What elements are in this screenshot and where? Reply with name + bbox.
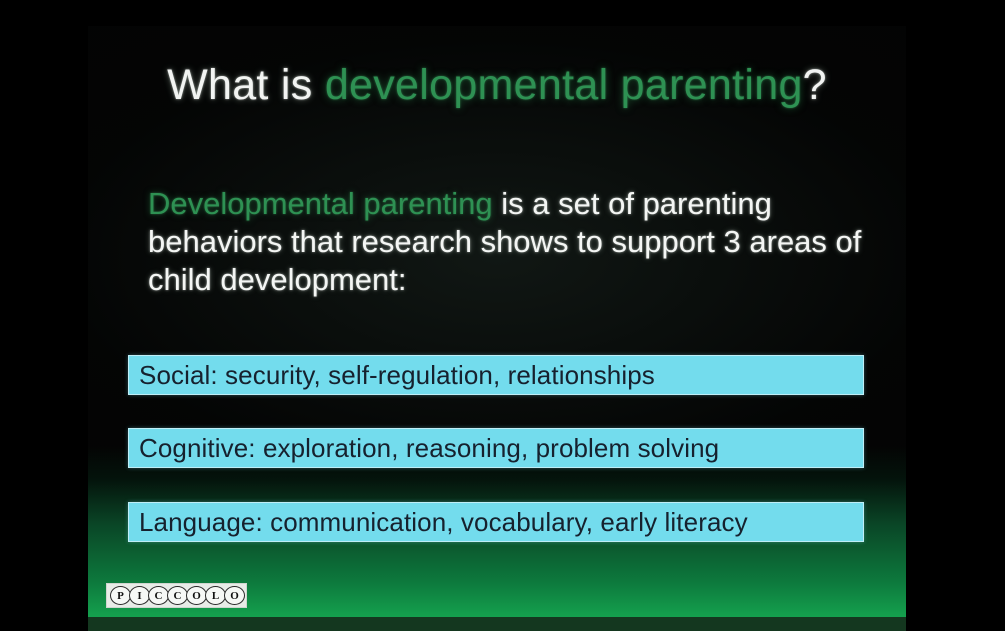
presentation-slide: What is developmental parenting? Develop…: [88, 26, 906, 631]
domain-bar-cognitive-label: Cognitive: exploration, reasoning, probl…: [129, 434, 719, 462]
piccolo-logo: P I C C O L O: [106, 583, 247, 608]
title-suffix: ?: [803, 61, 827, 109]
domain-bar-language: Language: communication, vocabulary, ear…: [128, 502, 864, 542]
domain-bar-language-label: Language: communication, vocabulary, ear…: [129, 508, 748, 536]
body-paragraph: Developmental parenting is a set of pare…: [148, 185, 878, 299]
title-highlight: developmental parenting: [325, 61, 803, 109]
domain-bar-cognitive: Cognitive: exploration, reasoning, probl…: [128, 428, 864, 468]
domain-bar-social-label: Social: security, self-regulation, relat…: [129, 361, 655, 389]
title-prefix: What is: [167, 61, 325, 109]
piccolo-logo-letter: I: [129, 586, 150, 605]
piccolo-logo-letter: C: [167, 586, 188, 605]
piccolo-logo-letter: P: [110, 586, 131, 605]
piccolo-logo-letter: O: [186, 586, 207, 605]
video-frame: What is developmental parenting? Develop…: [0, 0, 1005, 631]
piccolo-logo-letter: O: [224, 586, 245, 605]
piccolo-logo-letter: C: [148, 586, 169, 605]
body-highlight-term: Developmental parenting: [148, 186, 493, 221]
slide-footer-dark-strip: [88, 617, 906, 631]
page-title: What is developmental parenting?: [88, 63, 906, 108]
domain-bar-social: Social: security, self-regulation, relat…: [128, 355, 864, 395]
piccolo-logo-letter: L: [205, 586, 226, 605]
